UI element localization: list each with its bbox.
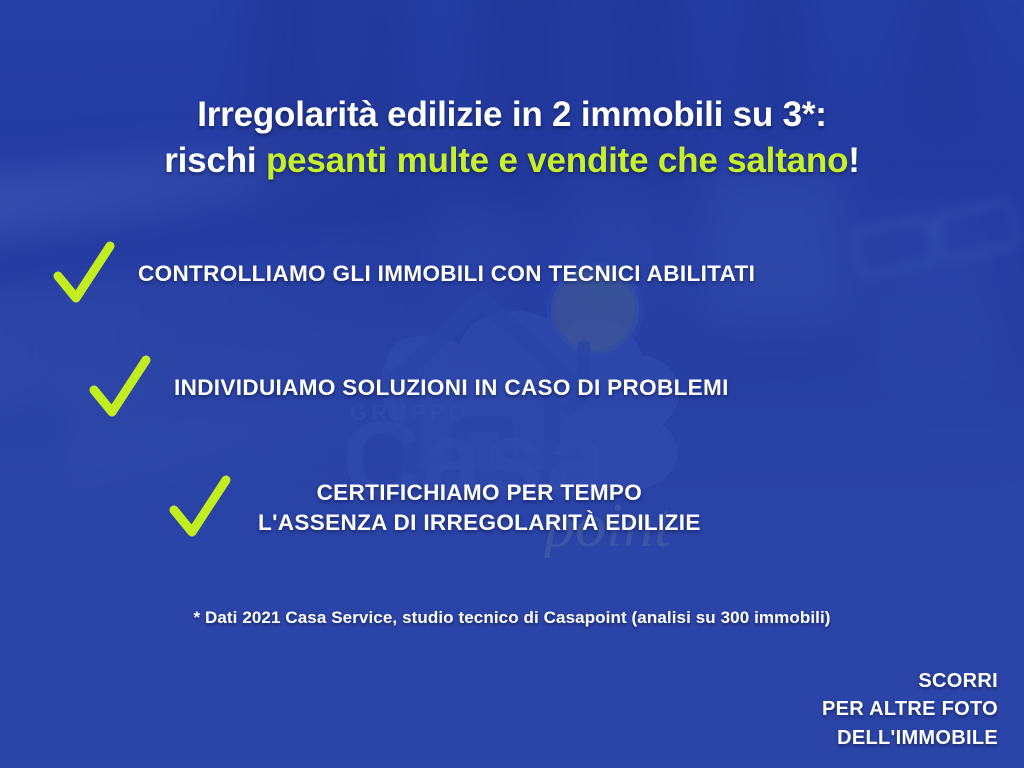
headline-line-2-accent: pesanti multe e vendite che saltano bbox=[266, 141, 848, 180]
check-icon bbox=[168, 472, 232, 544]
list-item: CONTROLLIAMO GLI IMMOBILI CON TECNICI AB… bbox=[0, 232, 1024, 316]
swipe-call-to-action: SCORRI PER ALTRE FOTO DELL'IMMOBILE bbox=[822, 667, 998, 752]
list-item: INDIVIDUIAMO SOLUZIONI IN CASO DI PROBLE… bbox=[0, 346, 1024, 430]
content-layer: Irregolarità edilizie in 2 immobili su 3… bbox=[0, 0, 1024, 768]
list-item-label: INDIVIDUIAMO SOLUZIONI IN CASO DI PROBLE… bbox=[174, 373, 729, 403]
swipe-cta-line-2: PER ALTRE FOTO bbox=[822, 695, 998, 723]
social-post-canvas: GRUPPO Casa ® point Irregolarità edilizi… bbox=[0, 0, 1024, 768]
page-title: Irregolarità edilizie in 2 immobili su 3… bbox=[0, 92, 1024, 184]
swipe-cta-line-1: SCORRI bbox=[822, 667, 998, 695]
check-icon bbox=[88, 352, 152, 424]
list-item-label: CERTIFICHIAMO PER TEMPO L'ASSENZA DI IRR… bbox=[258, 478, 701, 537]
benefits-list: CONTROLLIAMO GLI IMMOBILI CON TECNICI AB… bbox=[0, 232, 1024, 550]
list-item: CERTIFICHIAMO PER TEMPO L'ASSENZA DI IRR… bbox=[0, 466, 1024, 550]
headline-line-2-suffix: ! bbox=[848, 141, 859, 180]
footnote: * Dati 2021 Casa Service, studio tecnico… bbox=[0, 608, 1024, 628]
swipe-cta-line-3: DELL'IMMOBILE bbox=[822, 724, 998, 752]
check-icon bbox=[52, 238, 116, 310]
headline-line-1: Irregolarità edilizie in 2 immobili su 3… bbox=[197, 95, 827, 134]
list-item-label: CONTROLLIAMO GLI IMMOBILI CON TECNICI AB… bbox=[138, 259, 755, 289]
headline-line-2-prefix: rischi bbox=[164, 141, 266, 180]
